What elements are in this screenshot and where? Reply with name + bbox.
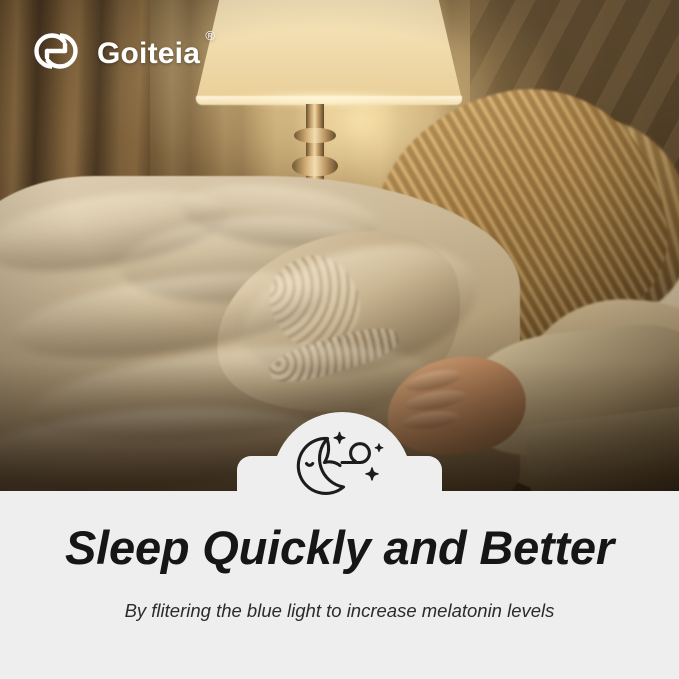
brand-name: Goiteia ® [97, 39, 200, 69]
interlocking-g-monogram-icon [28, 28, 84, 79]
page-title: Sleep Quickly and Better [0, 524, 679, 571]
page-subtitle: By flitering the blue light to increase … [0, 602, 679, 621]
lamp-knob [292, 156, 338, 176]
sleeping-crescent-moon-icon [287, 430, 395, 503]
product-marketing-card: Goiteia ® [0, 0, 679, 679]
brand-logo: Goiteia ® [28, 28, 200, 79]
lamp-shade [196, 0, 462, 100]
registered-trademark-icon: ® [205, 29, 215, 42]
lamp-knob [294, 128, 336, 143]
lamp-bulb-glow [214, 90, 442, 108]
cloud-badge [237, 412, 442, 494]
